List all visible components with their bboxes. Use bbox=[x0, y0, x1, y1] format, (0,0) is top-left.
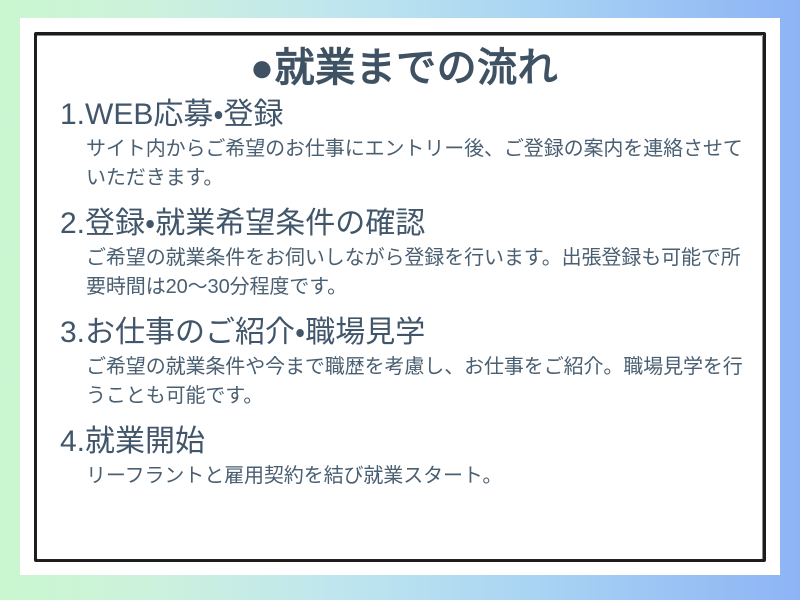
step-2-body: ご希望の就業条件をお伺いしながら登録を行います。出張登録も可能で所要時間は20〜… bbox=[86, 244, 748, 302]
step-item-4: 4.就業開始 リーフラントと雇用契約を結び就業スタート。 bbox=[60, 423, 748, 491]
step-1-heading: 1.WEB応募・登録 bbox=[60, 96, 748, 134]
content-card: ●就業までの流れ 1.WEB応募・登録 サイト内からご希望のお仕事にエントリー後… bbox=[20, 18, 780, 575]
poster-content: ●就業までの流れ 1.WEB応募・登録 サイト内からご希望のお仕事にエントリー後… bbox=[44, 38, 758, 556]
step-2-heading: 2.登録・就業希望条件の確認 bbox=[60, 205, 748, 243]
page-title: ●就業までの流れ bbox=[60, 42, 748, 94]
step-3-body: ご希望の就業条件や今まで職歴を考慮し、お仕事をご紹介。職場見学を行うことも可能で… bbox=[86, 353, 748, 411]
step-4-heading: 4.就業開始 bbox=[60, 423, 748, 461]
step-4-body: リーフラントと雇用契約を結び就業スタート。 bbox=[86, 462, 748, 491]
step-item-2: 2.登録・就業希望条件の確認 ご希望の就業条件をお伺いしながら登録を行います。出… bbox=[60, 205, 748, 302]
step-item-3: 3.お仕事のご紹介・職場見学 ご希望の就業条件や今まで職歴を考慮し、お仕事をご紹… bbox=[60, 314, 748, 411]
step-item-1: 1.WEB応募・登録 サイト内からご希望のお仕事にエントリー後、ご登録の案内を連… bbox=[60, 96, 748, 193]
step-3-heading: 3.お仕事のご紹介・職場見学 bbox=[60, 314, 748, 352]
poster-background: ●就業までの流れ 1.WEB応募・登録 サイト内からご希望のお仕事にエントリー後… bbox=[0, 0, 800, 600]
step-1-body: サイト内からご希望のお仕事にエントリー後、ご登録の案内を連絡させていただきます。 bbox=[86, 135, 748, 193]
